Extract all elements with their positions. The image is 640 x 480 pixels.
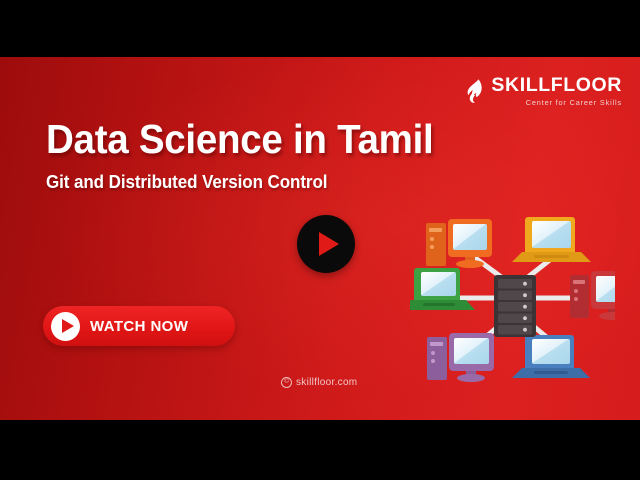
watch-now-label: WATCH NOW <box>90 318 188 335</box>
watch-now-button[interactable]: WATCH NOW <box>43 306 235 346</box>
client-server-network-diagram <box>410 197 615 392</box>
node-bottom-left <box>427 333 494 382</box>
page-subtitle: Git and Distributed Version Control <box>46 171 425 193</box>
flame-icon <box>465 79 485 103</box>
brand-logo[interactable]: SKILLFLOOR Center for Career Skills <box>465 76 622 106</box>
copyright-icon: © <box>281 377 292 388</box>
brand-tagline: Center for Career Skills <box>491 99 622 106</box>
brand-name: SKILLFLOOR <box>491 76 622 96</box>
headline-block: Data Science in Tamil Git and Distribute… <box>46 119 458 193</box>
watermark: © skillfloor.com <box>281 377 357 388</box>
play-button[interactable] <box>297 215 355 273</box>
play-icon <box>319 232 339 256</box>
page-title: Data Science in Tamil <box>46 119 433 160</box>
central-server-rack <box>494 275 536 337</box>
node-top-right <box>512 217 591 262</box>
play-circle-icon <box>51 312 80 341</box>
node-right <box>570 271 615 320</box>
node-bottom-right <box>512 335 590 378</box>
video-thumbnail: SKILLFLOOR Center for Career Skills Data… <box>0 0 640 480</box>
letterbox-top <box>0 0 640 57</box>
letterbox-bottom <box>0 420 640 480</box>
node-left <box>410 268 475 310</box>
slide-canvas: SKILLFLOOR Center for Career Skills Data… <box>0 57 640 420</box>
watermark-text: skillfloor.com <box>296 377 357 388</box>
